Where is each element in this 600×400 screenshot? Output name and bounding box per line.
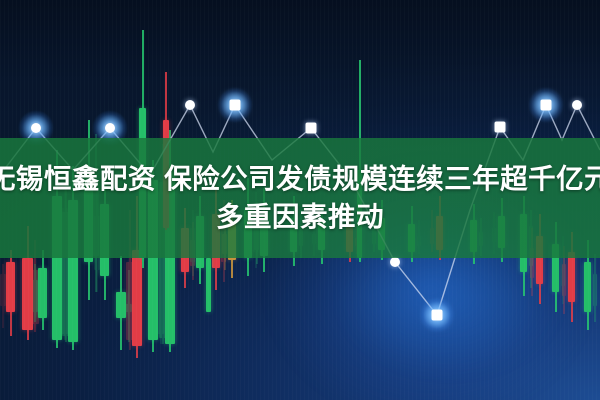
headline-line-2: 多重因素推动 (216, 198, 384, 236)
headline-line-1: 无锡恒鑫配资 保险公司发债规模连续三年超千亿元 (0, 160, 600, 198)
banner-image: 无锡恒鑫配资 保险公司发债规模连续三年超千亿元 多重因素推动 (0, 0, 600, 400)
node-marker-square (495, 122, 506, 133)
node-marker-circle (572, 100, 582, 110)
node-marker-square (541, 100, 552, 111)
title-block: 无锡恒鑫配资 保险公司发债规模连续三年超千亿元 多重因素推动 (0, 138, 600, 258)
node-marker-square (432, 310, 443, 321)
node-marker-square (230, 100, 241, 111)
node-marker-circle (105, 123, 115, 133)
node-marker-square (306, 123, 317, 134)
node-marker-circle (390, 257, 400, 267)
node-marker-circle (185, 100, 195, 110)
node-marker-circle (31, 123, 41, 133)
